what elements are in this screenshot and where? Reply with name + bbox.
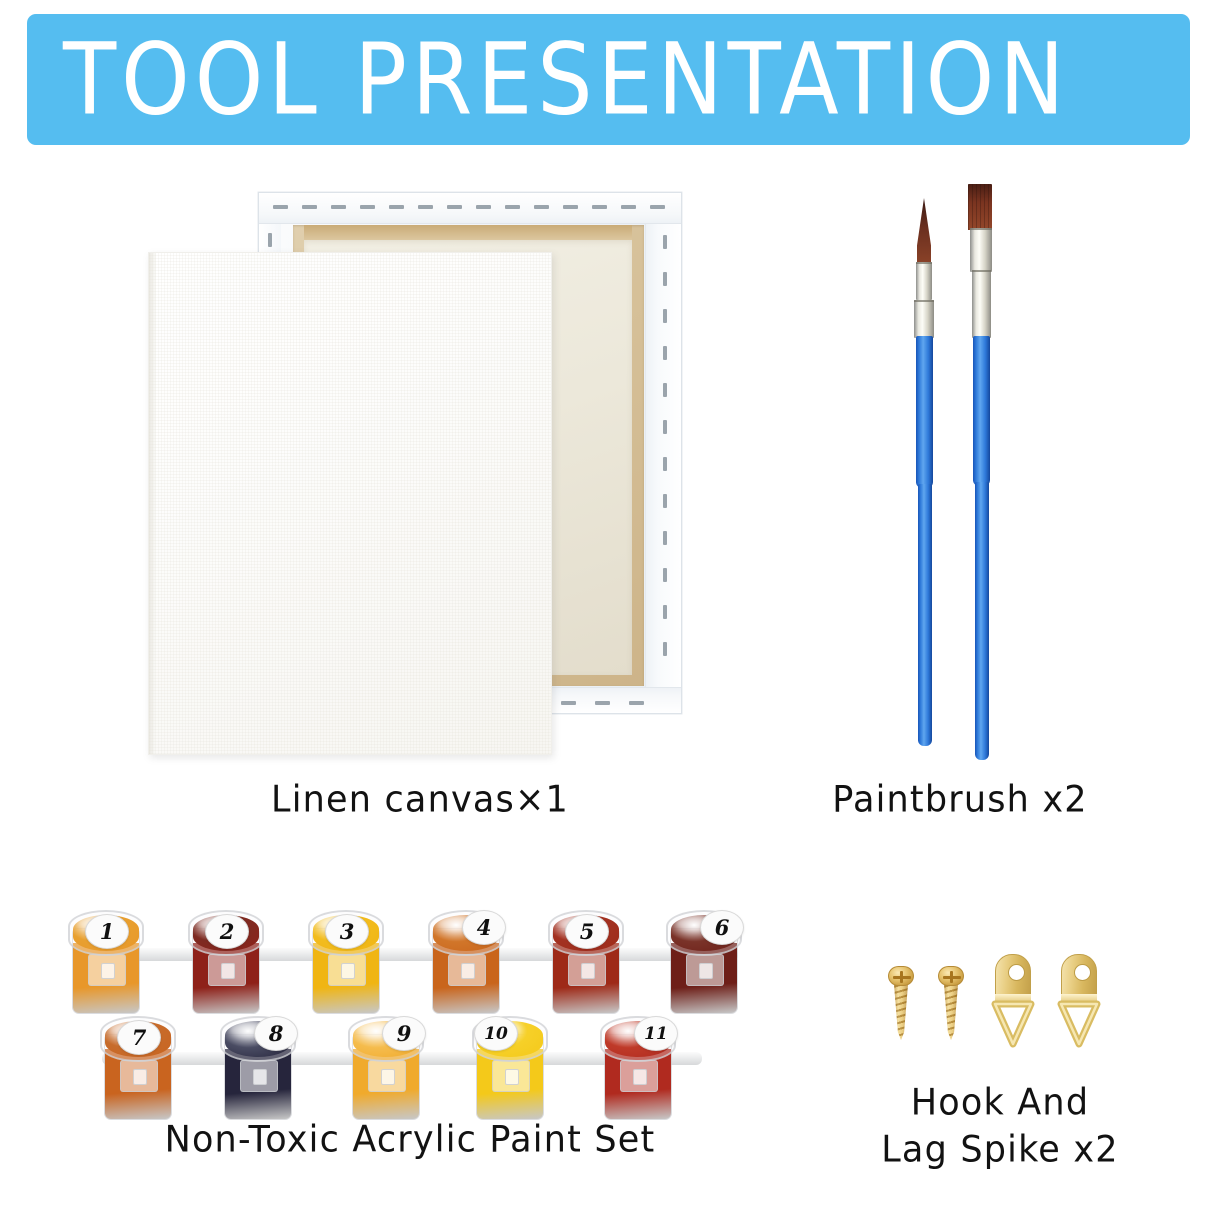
- staple: [563, 205, 578, 209]
- staple: [663, 494, 667, 508]
- paint-pot-11[interactable]: 11: [600, 1008, 676, 1122]
- header-banner: TOOL PRESENTATION: [27, 14, 1190, 145]
- paint-pot-clip: [492, 1060, 530, 1092]
- staple: [505, 205, 520, 209]
- lag-screw-1-threads: [894, 984, 908, 1040]
- brush-flat-handle-lower: [975, 482, 989, 760]
- caption-linen-canvas: Linen canvas×1: [220, 777, 620, 824]
- paint-pot-8[interactable]: 8: [220, 1008, 296, 1122]
- phillips-slot-v-icon: [950, 971, 953, 983]
- lag-screw-1-head: [888, 966, 914, 986]
- brush-round-handle-lower: [918, 484, 932, 746]
- staple: [534, 205, 549, 209]
- caption-paintbrush: Paintbrush x2: [790, 777, 1130, 824]
- lag-screw-2: [938, 966, 964, 1040]
- brush-round-ferrule-lower: [914, 300, 934, 338]
- paint-pot-number-label: 5: [565, 914, 609, 949]
- paintbrush-image: [880, 170, 1060, 790]
- staple: [663, 383, 667, 397]
- brush-round-handle-upper: [916, 336, 933, 488]
- canvas-edge-right: [645, 193, 681, 713]
- brush-flat-ferrule-lower: [972, 270, 991, 338]
- linen-canvas-image: [140, 180, 700, 760]
- canvas-edge-top: [259, 193, 681, 224]
- paint-pot-clip: [620, 1060, 658, 1092]
- paint-pot-2[interactable]: 2: [188, 902, 264, 1016]
- d-ring-hanger-1: [990, 954, 1036, 1048]
- paint-pot-clip: [568, 954, 606, 986]
- staple: [476, 205, 491, 209]
- paint-pot-9[interactable]: 9: [348, 1008, 424, 1122]
- d-ring-hanger-1-ring: [990, 1000, 1036, 1048]
- paint-pot-7[interactable]: 7: [100, 1008, 176, 1122]
- staple: [629, 701, 644, 705]
- paint-pot-number-label: 10: [474, 1016, 518, 1051]
- page-title: TOOL PRESENTATION: [63, 30, 1069, 129]
- paint-pot-number-label: 4: [462, 910, 506, 945]
- paint-pot-4[interactable]: 4: [428, 902, 504, 1016]
- phillips-slot-v-icon: [900, 971, 903, 983]
- paint-pot-number-label: 2: [205, 914, 249, 949]
- staple: [268, 233, 272, 247]
- paint-pot-6[interactable]: 6: [666, 902, 742, 1016]
- paint-pot-3[interactable]: 3: [308, 902, 384, 1016]
- paint-pot-number-label: 6: [700, 910, 744, 945]
- screw-hole-icon: [1008, 964, 1025, 981]
- staple: [389, 205, 404, 209]
- lag-screw-2-shaft: [944, 984, 958, 1040]
- staple: [360, 205, 375, 209]
- paint-pot-clip: [88, 954, 126, 986]
- stretcher-bar-top: [304, 225, 632, 240]
- paint-pot-number-label: 7: [117, 1020, 161, 1055]
- brush-round-bristles: [917, 198, 931, 264]
- staple: [418, 205, 433, 209]
- paint-pot-clip: [208, 954, 246, 986]
- paint-pot-number-label: 3: [325, 914, 369, 949]
- paint-pot-10[interactable]: 10: [472, 1008, 548, 1122]
- lag-screw-2-head: [938, 966, 964, 986]
- staple: [621, 205, 636, 209]
- d-ring-hanger-2-ring: [1056, 1000, 1102, 1048]
- staple: [561, 701, 576, 705]
- staple: [663, 642, 667, 656]
- lag-screw-1-shaft: [894, 984, 908, 1040]
- paint-pot-number-label: 1: [85, 914, 129, 949]
- caption-hook-and-lag-spike: Hook And Lag Spike x2: [860, 1080, 1140, 1174]
- paint-pot-1[interactable]: 1: [68, 902, 144, 1016]
- caption-paint-set: Non-Toxic Acrylic Paint Set: [110, 1117, 710, 1164]
- paint-pot-clip: [328, 954, 366, 986]
- paint-pot-clip: [120, 1060, 158, 1092]
- paint-pot-clip: [448, 954, 486, 986]
- staple: [447, 205, 462, 209]
- hook-and-lag-spike-image: [870, 950, 1110, 1060]
- staple: [663, 420, 667, 434]
- paint-pot-clip: [686, 954, 724, 986]
- staple: [663, 605, 667, 619]
- lag-screw-1: [888, 966, 914, 1040]
- staple: [663, 531, 667, 545]
- paint-pot-clip: [368, 1060, 406, 1092]
- brush-flat-bristles: [968, 184, 992, 230]
- paint-pot-number-label: 11: [634, 1016, 678, 1051]
- paint-pot-5[interactable]: 5: [548, 902, 624, 1016]
- brush-flat-handle-upper: [973, 336, 990, 486]
- canvas-front-edge: [149, 253, 156, 754]
- brush-round-ferrule-upper: [916, 262, 932, 300]
- brush-flat-ferrule-upper: [970, 228, 992, 272]
- staple: [302, 205, 317, 209]
- staple: [273, 205, 288, 209]
- pot-connector-strip-top: [88, 948, 738, 961]
- staple: [663, 346, 667, 360]
- lag-screw-2-threads: [944, 984, 958, 1040]
- screw-hole-icon: [1074, 964, 1091, 981]
- canvas-front-face: [148, 252, 552, 755]
- staple: [663, 272, 667, 286]
- staple: [592, 205, 607, 209]
- staple: [331, 205, 346, 209]
- staple: [663, 309, 667, 323]
- staple: [595, 701, 610, 705]
- staple: [663, 457, 667, 471]
- staple: [663, 568, 667, 582]
- staple: [650, 205, 665, 209]
- paint-pot-number-label: 8: [254, 1016, 298, 1051]
- paint-pot-clip: [240, 1060, 278, 1092]
- d-ring-hanger-2: [1056, 954, 1102, 1048]
- acrylic-paint-set-image: 1234567891011: [60, 890, 760, 1110]
- staple: [663, 235, 667, 249]
- paint-pot-number-label: 9: [382, 1016, 426, 1051]
